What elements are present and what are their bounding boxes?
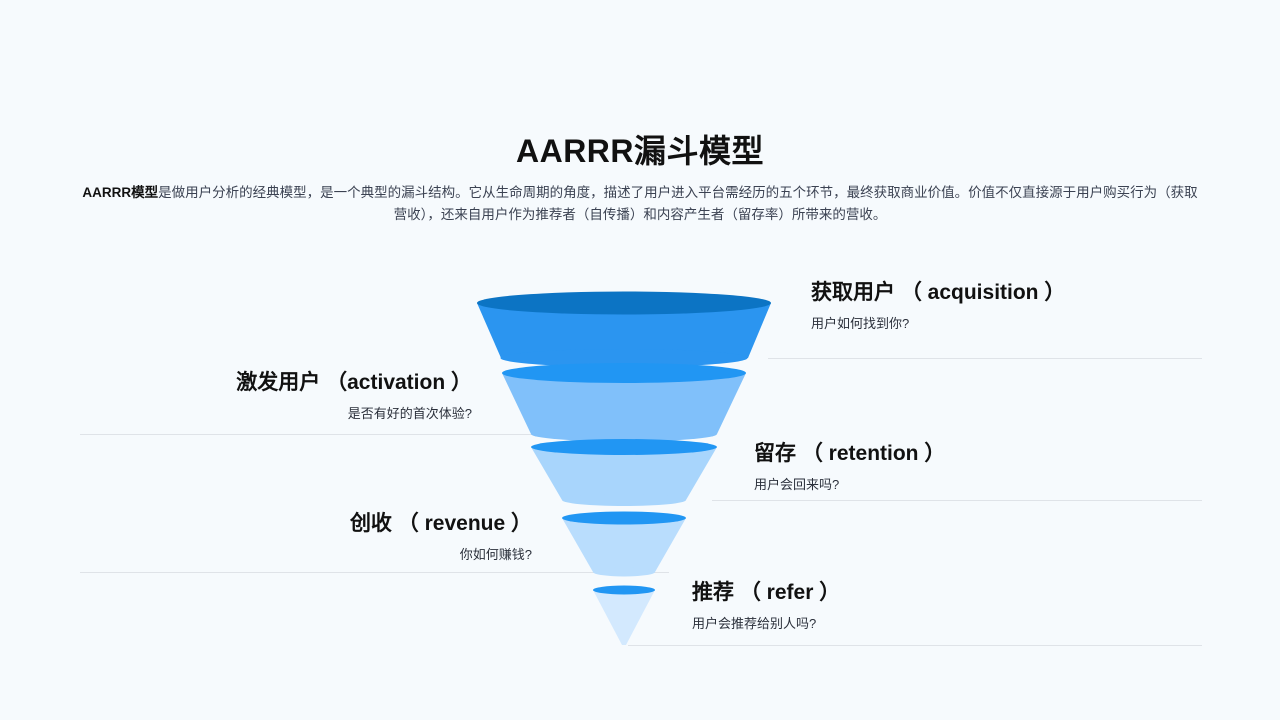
stage-subtitle-retention: 用户会回来吗? [754, 475, 945, 495]
funnel-segment-revenue[interactable] [562, 512, 686, 577]
stage-title-refer: 推荐 （ refer ） [692, 579, 840, 607]
stage-title-acquisition: 获取用户 （ acquisition ） [811, 279, 1065, 307]
funnel-segment-refer[interactable] [593, 586, 655, 646]
stage-label-acquisition: 获取用户 （ acquisition ） 用户如何找到你? [811, 279, 1065, 334]
stage-subtitle-acquisition: 用户如何找到你? [811, 314, 1065, 334]
stage-label-activation: 激发用户 （activation ） 是否有好的首次体验? [80, 369, 472, 424]
stage-label-revenue: 创收 （ revenue ） 你如何赚钱? [80, 510, 532, 565]
funnel-diagram: 获取用户 （ acquisition ） 用户如何找到你? 激发用户 （acti… [0, 0, 1280, 720]
stage-title-revenue: 创收 （ revenue ） [80, 510, 532, 538]
stage-label-retention: 留存 （ retention ） 用户会回来吗? [754, 440, 945, 495]
stage-title-retention: 留存 （ retention ） [754, 440, 945, 468]
funnel-shape [0, 0, 1280, 720]
funnel-segment-retention[interactable] [531, 439, 717, 506]
stage-subtitle-revenue: 你如何赚钱? [80, 545, 532, 565]
stage-label-refer: 推荐 （ refer ） 用户会推荐给别人吗? [692, 579, 840, 634]
funnel-segment-activation[interactable] [502, 363, 746, 442]
stage-subtitle-activation: 是否有好的首次体验? [80, 404, 472, 424]
stage-title-activation: 激发用户 （activation ） [80, 369, 472, 397]
stage-subtitle-refer: 用户会推荐给别人吗? [692, 614, 840, 634]
funnel-segment-acquisition[interactable] [477, 292, 771, 368]
